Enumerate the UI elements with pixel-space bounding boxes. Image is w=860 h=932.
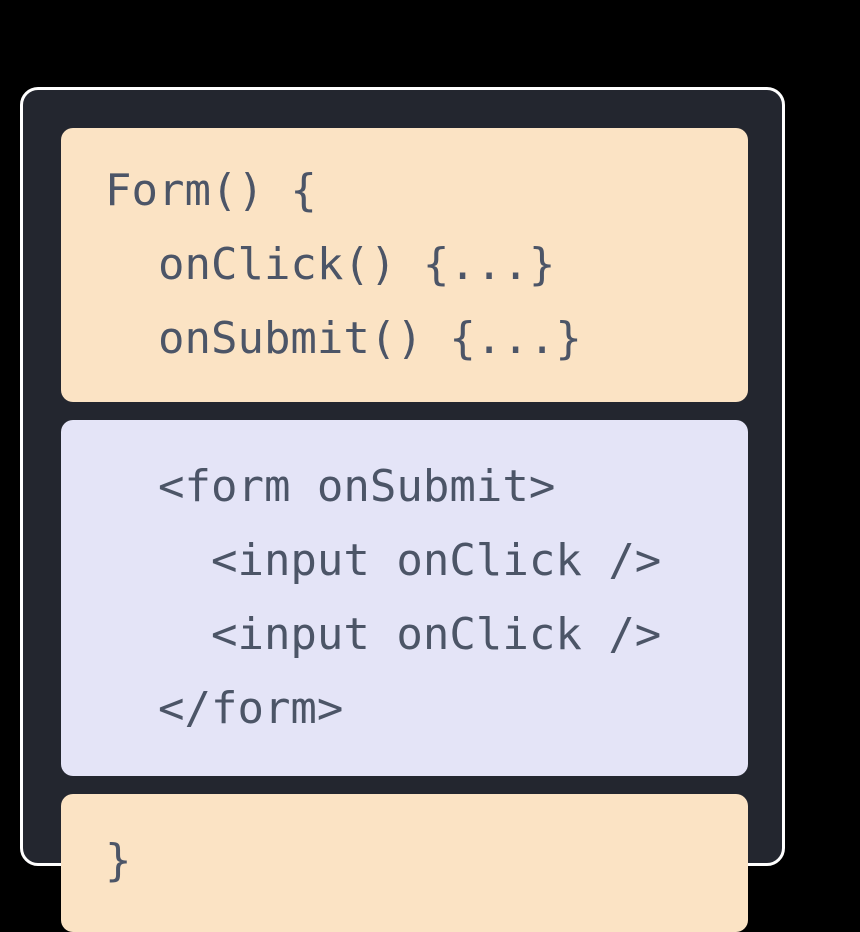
diagram-canvas: Form() { onClick() {...} onSubmit() {...… [0, 0, 860, 874]
code-line: Form() { [61, 154, 748, 228]
code-line: <form onSubmit> [61, 450, 748, 524]
code-line: <input onClick /> [61, 598, 748, 672]
panel-stack: Form() { onClick() {...} onSubmit() {...… [61, 128, 748, 932]
code-line: </form> [61, 672, 748, 746]
code-line: <input onClick /> [61, 524, 748, 598]
code-line: onSubmit() {...} [61, 302, 748, 376]
code-card: Form() { onClick() {...} onSubmit() {...… [20, 87, 785, 866]
component-panel: Form() { onClick() {...} onSubmit() {...… [61, 128, 748, 402]
code-line: onClick() {...} [61, 228, 748, 302]
code-line: } [61, 824, 748, 898]
closing-panel: } [61, 794, 748, 932]
markup-panel: <form onSubmit> <input onClick /> <input… [61, 420, 748, 776]
